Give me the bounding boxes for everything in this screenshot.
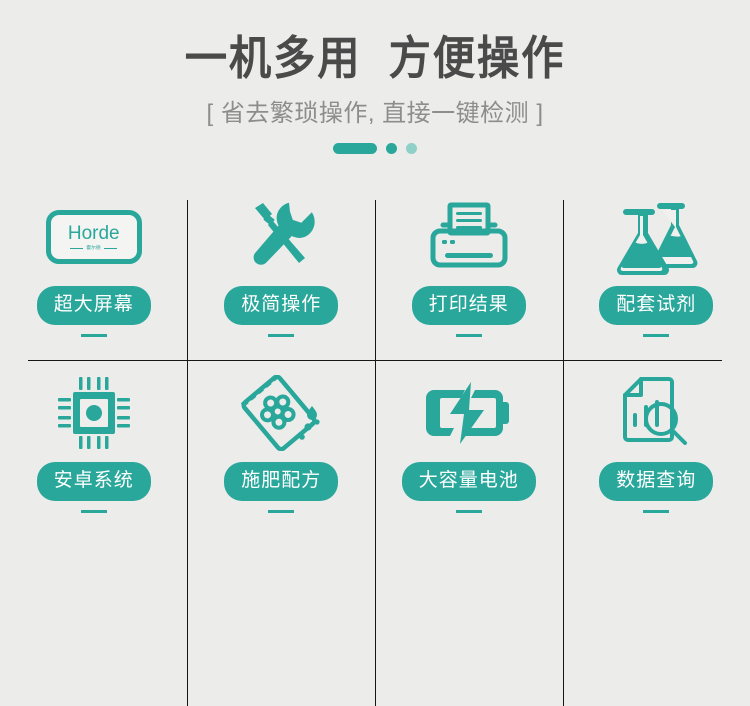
pager-dot-2[interactable] [386,143,397,154]
badge-underline [268,334,294,337]
feature-badge-tools[interactable]: 极简操作 [224,286,338,325]
feature-cell-battery[interactable]: 大容量电池 [375,360,563,536]
screen-brand-sub: 霍尔德 [70,246,117,251]
feature-badge-printer[interactable]: 打印结果 [412,286,526,325]
badge-underline [81,334,107,337]
feature-badge-fertilizer[interactable]: 施肥配方 [224,462,338,501]
grid-divider-v5 [375,376,376,706]
feature-badge-battery[interactable]: 大容量电池 [402,462,536,501]
feature-badge-query[interactable]: 数据查询 [599,462,713,501]
feature-badge-reagents[interactable]: 配套试剂 [599,286,713,325]
carousel-pager[interactable] [0,142,750,154]
printer-icon [425,198,513,276]
page-subtitle: [ 省去繁琐操作, 直接一键检测 ] [0,93,750,128]
fertilizer-bag-icon [239,374,323,452]
tools-icon [239,198,323,276]
feature-cell-screen[interactable]: Horde 霍尔德 超大屏幕 [0,184,188,360]
screen-brand-label: Horde [68,224,120,243]
feature-row-2: 安卓系统 [0,360,750,536]
grid-divider-v6 [563,376,564,706]
feature-cell-printer[interactable]: 打印结果 [375,184,563,360]
feature-cell-fertilizer[interactable]: 施肥配方 [188,360,376,536]
badge-underline [643,334,669,337]
chip-icon [55,374,133,452]
rule-left [70,248,83,249]
badge-underline [81,510,107,513]
battery-icon [423,374,515,452]
badge-underline [268,510,294,513]
feature-cell-query[interactable]: 数据查询 [563,360,750,536]
feature-badge-screen[interactable]: 超大屏幕 [37,286,151,325]
screen-icon: Horde 霍尔德 [46,198,142,276]
feature-row-1: Horde 霍尔德 超大屏幕 [0,184,750,360]
flasks-icon [614,198,698,276]
badge-underline [456,334,482,337]
screen-brand-sub-label: 霍尔德 [87,246,101,251]
promo-banner: 一机多用 方便操作 [ 省去繁琐操作, 直接一键检测 ] Horde 霍尔德 [0,0,750,547]
pager-dot-3[interactable] [406,143,417,154]
feature-cell-reagents[interactable]: 配套试剂 [563,184,750,360]
feature-cell-tools[interactable]: 极简操作 [188,184,376,360]
feature-grid: Horde 霍尔德 超大屏幕 [0,184,750,536]
grid-divider-v4 [187,376,188,706]
feature-badge-android[interactable]: 安卓系统 [37,462,151,501]
rule-right [104,248,117,249]
page-title: 一机多用 方便操作 [30,34,720,82]
header: 一机多用 方便操作 [ 省去繁琐操作, 直接一键检测 ] [0,0,750,154]
document-search-icon [617,374,695,452]
badge-underline [643,510,669,513]
feature-cell-android[interactable]: 安卓系统 [0,360,188,536]
badge-underline [456,510,482,513]
pager-dot-active[interactable] [333,143,377,154]
